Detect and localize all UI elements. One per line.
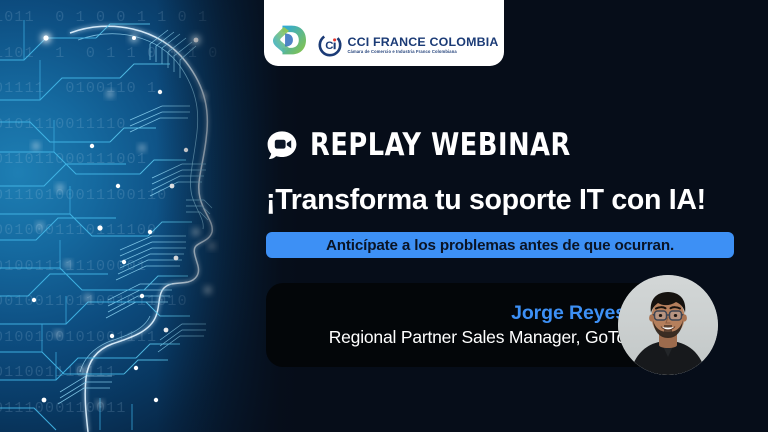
speaker-headshot-avatar — [618, 275, 718, 375]
binary-digits-overlay: 1011 0 1 0 0 1 1 0 1 1101 1 0 1 1 0 0 1 … — [0, 0, 224, 432]
speaker-name: Jorge Reyes — [511, 302, 626, 325]
stylized-d-logo-icon — [269, 23, 309, 57]
subheadline-text: Anticípate a los problemas antes de que … — [326, 237, 674, 254]
replay-webinar-eyebrow: REPLAY WEBINAR — [266, 127, 594, 163]
circuit-nodes — [32, 33, 215, 406]
svg-text:C: C — [326, 40, 334, 52]
partner-logo-card: C CCI FRANCE COLOMBIA Cámara de Comercio… — [264, 0, 504, 66]
webinar-banner: 1011 0 1 0 0 1 1 0 1 1101 1 0 1 1 0 0 1 … — [0, 0, 768, 432]
speaker-role: Regional Partner Sales Manager, GoTo — [329, 327, 626, 348]
cci-circle-logo-icon: C — [318, 33, 342, 57]
cci-logo-subtitle: Cámara de Comercio e Industria Franco Co… — [347, 50, 498, 54]
subheadline-pill: Anticípate a los problemas antes de que … — [266, 232, 734, 258]
video-chat-bubble-icon — [266, 129, 298, 161]
cci-logo-title: CCI FRANCE COLOMBIA — [347, 36, 498, 48]
ai-head-circuit-illustration: 1011 0 1 0 0 1 1 0 1 1101 1 0 1 1 0 0 1 … — [0, 0, 300, 432]
replay-webinar-label: REPLAY WEBINAR — [310, 127, 571, 163]
webinar-headline: ¡Transforma tu soporte IT con IA! — [266, 184, 746, 217]
circuit-traces — [0, 0, 300, 432]
